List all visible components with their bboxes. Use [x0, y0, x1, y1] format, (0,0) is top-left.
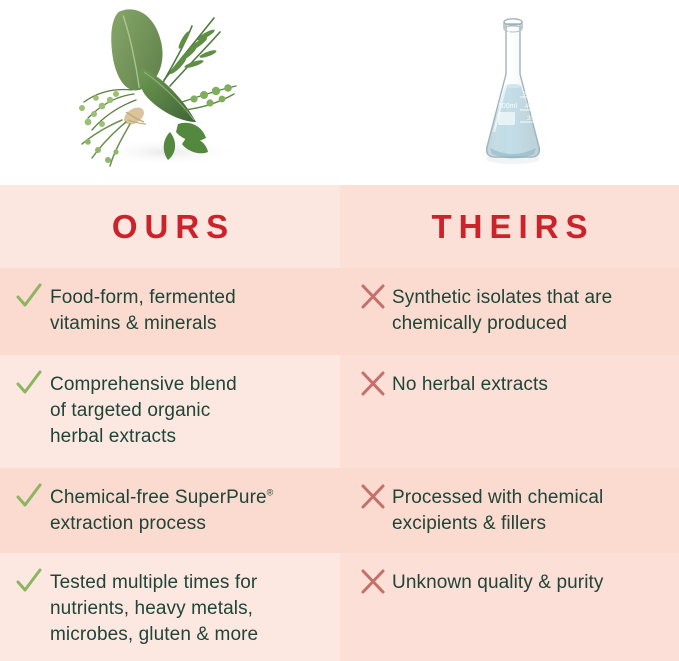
row-4-ours-text: Tested multiple times for nutrients, hea…: [50, 570, 258, 648]
row-1-ours-cell: Food-form, fermented vitamins & minerals: [0, 268, 340, 355]
row-1-theirs-text: Synthetic isolates that are chemically p…: [392, 285, 612, 337]
check-icon: [14, 369, 44, 399]
row-3-theirs-cell: Processed with chemical excipients & fil…: [340, 468, 679, 553]
row-2-ours-text: Comprehensive blend of targeted organic …: [50, 372, 237, 450]
svg-text:100ml: 100ml: [498, 103, 518, 110]
row-3-ours-text-tail: extraction process: [50, 513, 206, 534]
svg-text:20: 20: [527, 116, 534, 122]
cross-icon: [358, 282, 388, 312]
column-header-theirs-label: THEIRS: [424, 210, 594, 243]
check-icon: [14, 482, 44, 512]
row-4-theirs-text: Unknown quality & purity: [392, 570, 604, 596]
row-3-ours-cell: Chemical-free SuperPure® extraction proc…: [0, 468, 340, 553]
row-3-ours-text-main: Chemical-free SuperPure: [50, 487, 267, 508]
registered-mark: ®: [267, 488, 274, 498]
row-2-theirs-cell: No herbal extracts: [340, 355, 679, 468]
row-2-theirs-text: No herbal extracts: [392, 372, 548, 398]
table-row: Food-form, fermented vitamins & minerals…: [0, 268, 679, 355]
column-header-ours: OURS: [0, 185, 340, 268]
svg-text:60: 60: [523, 91, 530, 97]
erlenmeyer-flask-photo: 100ml 60 40 20: [478, 8, 548, 173]
row-3-ours-text: Chemical-free SuperPure® extraction proc…: [50, 485, 273, 537]
row-3-theirs-text: Processed with chemical excipients & fil…: [392, 485, 603, 537]
comparison-table: OURS THEIRS Food-form, fermented vitamin…: [0, 185, 679, 661]
column-header-ours-label: OURS: [105, 210, 235, 243]
check-icon: [14, 282, 44, 312]
row-4-theirs-cell: Unknown quality & purity: [340, 553, 679, 661]
cross-icon: [358, 567, 388, 597]
table-row: Comprehensive blend of targeted organic …: [0, 355, 679, 468]
table-header-row: OURS THEIRS: [0, 185, 679, 268]
svg-text:40: 40: [525, 104, 532, 110]
cross-icon: [358, 482, 388, 512]
row-1-ours-text: Food-form, fermented vitamins & minerals: [50, 285, 236, 337]
column-header-theirs: THEIRS: [340, 185, 679, 268]
table-row: Chemical-free SuperPure® extraction proc…: [0, 468, 679, 553]
table-row: Tested multiple times for nutrients, hea…: [0, 553, 679, 661]
hero-image-band: 100ml 60 40 20: [0, 0, 679, 185]
cross-icon: [358, 369, 388, 399]
row-2-ours-cell: Comprehensive blend of targeted organic …: [0, 355, 340, 468]
check-icon: [14, 567, 44, 597]
fresh-herb-bundle-photo: [58, 2, 258, 182]
row-1-theirs-cell: Synthetic isolates that are chemically p…: [340, 268, 679, 355]
row-4-ours-cell: Tested multiple times for nutrients, hea…: [0, 553, 340, 661]
